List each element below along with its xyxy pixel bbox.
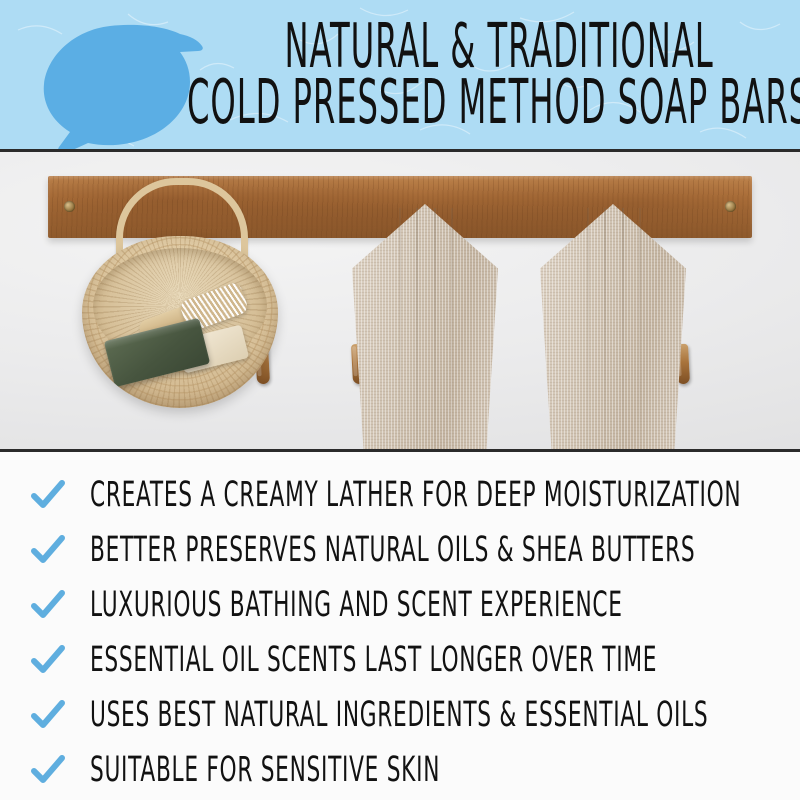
hanging-towel bbox=[540, 204, 686, 452]
page-title-line-2: COLD PRESSED METHOD SOAP BARS bbox=[187, 68, 800, 136]
header-title-block: NATURAL & TRADITIONAL COLD PRESSED METHO… bbox=[200, 0, 798, 149]
benefit-item: ESSENTIAL OIL SCENTS LAST LONGER OVER TI… bbox=[0, 632, 800, 687]
towel-fabric bbox=[352, 204, 498, 452]
towel-fold-line bbox=[587, 208, 589, 452]
checkmark-icon bbox=[28, 640, 68, 680]
towel-fabric bbox=[540, 204, 686, 452]
checkmark-icon bbox=[28, 750, 68, 790]
benefit-item: BETTER PRESERVES NATURAL OILS & SHEA BUT… bbox=[0, 522, 800, 577]
benefit-item: LUXURIOUS BATHING AND SCENT EXPERIENCE bbox=[0, 577, 800, 632]
woven-basket bbox=[82, 224, 278, 410]
checkmark-icon bbox=[28, 530, 68, 570]
product-photo bbox=[0, 152, 800, 452]
towel-fold-line bbox=[434, 208, 436, 452]
benefit-label: ESSENTIAL OIL SCENTS LAST LONGER OVER TI… bbox=[90, 640, 657, 678]
benefit-label: USES BEST NATURAL INGREDIENTS & ESSENTIA… bbox=[90, 695, 708, 733]
hanging-towel bbox=[352, 204, 498, 452]
towel-fold-line bbox=[622, 208, 624, 452]
towel-fold-line bbox=[604, 208, 606, 452]
basket-bowl bbox=[82, 236, 278, 408]
checkmark-icon bbox=[28, 475, 68, 515]
benefit-label: SUITABLE FOR SENSITIVE SKIN bbox=[90, 750, 440, 788]
benefit-item: USES BEST NATURAL INGREDIENTS & ESSENTIA… bbox=[0, 687, 800, 742]
towel-fold-line bbox=[639, 208, 641, 452]
benefit-label: LUXURIOUS BATHING AND SCENT EXPERIENCE bbox=[90, 585, 623, 623]
bird-silhouette-icon bbox=[30, 6, 210, 152]
screw-icon bbox=[725, 201, 736, 212]
header-banner: NATURAL & TRADITIONAL COLD PRESSED METHO… bbox=[0, 0, 800, 152]
benefit-label: CREATES A CREAMY LATHER FOR DEEP MOISTUR… bbox=[90, 475, 741, 513]
benefit-item: CREATES A CREAMY LATHER FOR DEEP MOISTUR… bbox=[0, 467, 800, 522]
benefit-item: SUITABLE FOR SENSITIVE SKIN bbox=[0, 742, 800, 797]
towel-fold-line bbox=[451, 208, 453, 452]
checkmark-icon bbox=[28, 585, 68, 625]
checkmark-icon bbox=[28, 695, 68, 735]
towel-fold-line bbox=[416, 208, 418, 452]
benefits-list: CREATES A CREAMY LATHER FOR DEEP MOISTUR… bbox=[0, 455, 800, 800]
towel-fold-line bbox=[399, 208, 401, 452]
soap-bar-infographic: NATURAL & TRADITIONAL COLD PRESSED METHO… bbox=[0, 0, 800, 800]
screw-icon bbox=[64, 201, 75, 212]
benefit-label: BETTER PRESERVES NATURAL OILS & SHEA BUT… bbox=[90, 530, 695, 568]
